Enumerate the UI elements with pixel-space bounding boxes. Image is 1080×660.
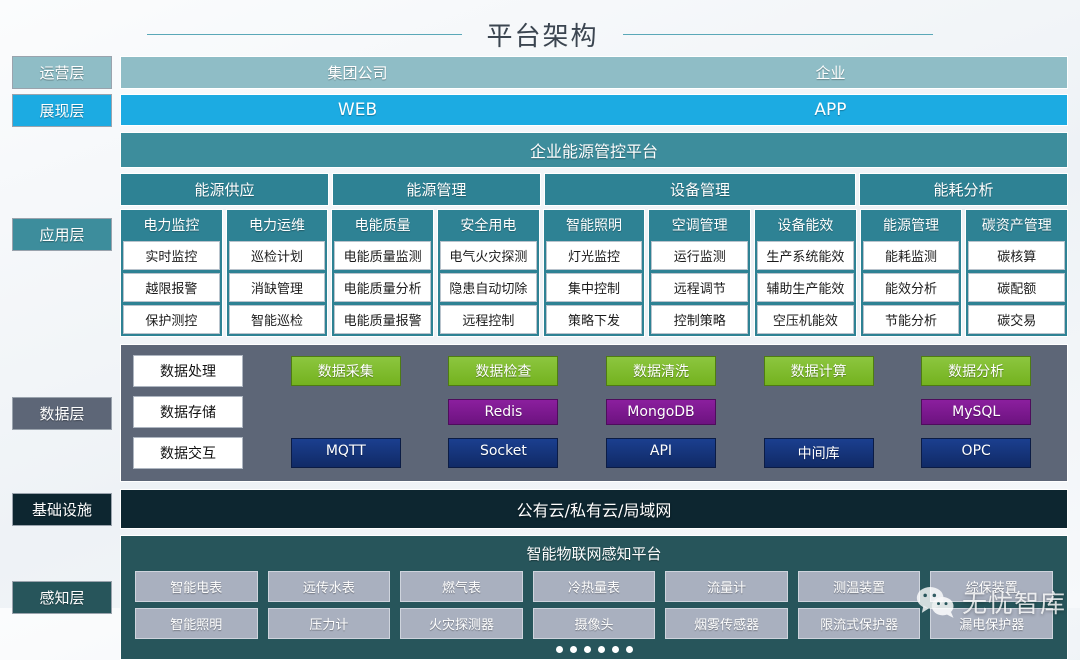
data-layer-slot: Redis bbox=[425, 399, 583, 425]
presentation-item-web[interactable]: WEB bbox=[121, 95, 594, 125]
perception-column-5: 流量计烟雾传感器 bbox=[665, 571, 788, 639]
perception-device-cell[interactable]: 摄像头 bbox=[533, 608, 656, 639]
data-layer-slot: MQTT bbox=[267, 438, 425, 468]
perception-device-cell[interactable]: 燃气表 bbox=[400, 571, 523, 602]
data-layer-category[interactable]: 数据处理 bbox=[133, 355, 243, 387]
ellipsis-dot bbox=[626, 646, 633, 653]
data-layer-category[interactable]: 数据存储 bbox=[133, 396, 243, 428]
ellipsis-dot bbox=[570, 646, 577, 653]
application-group-header-row: 能源供应能源管理设备管理能耗分析 bbox=[120, 173, 1068, 206]
presentation-bar: WEB APP bbox=[120, 94, 1068, 126]
data-layer-chip[interactable]: MySQL bbox=[921, 399, 1031, 425]
application-layer-row: 应用层 企业能源管控平台 能源供应能源管理设备管理能耗分析 电力监控实时监控越限… bbox=[0, 132, 1080, 337]
application-group-label: 设备管理 bbox=[670, 181, 730, 199]
application-column-3: 电能质量电能质量监测电能质量分析电能质量报警 bbox=[331, 209, 434, 337]
application-column-head[interactable]: 碳资产管理 bbox=[968, 212, 1065, 238]
data-layer-slot: 数据分析 bbox=[897, 356, 1055, 386]
application-cell[interactable]: 空压机能效 bbox=[757, 305, 854, 334]
application-column-5: 智能照明灯光监控集中控制策略下发 bbox=[543, 209, 646, 337]
data-layer-items: RedisMongoDBMySQL bbox=[267, 399, 1055, 425]
data-layer-slot bbox=[740, 399, 898, 425]
application-column-head[interactable]: 安全用电 bbox=[440, 212, 537, 238]
data-layer-row: 数据层 数据处理数据采集数据检查数据清洗数据计算数据分析数据存储RedisMon… bbox=[0, 344, 1080, 482]
application-cell[interactable]: 运行监测 bbox=[651, 241, 748, 270]
application-cell[interactable]: 灯光监控 bbox=[546, 241, 643, 270]
ellipsis-dot bbox=[556, 646, 563, 653]
application-column-4: 安全用电电气火灾探测隐患自动切除远程控制 bbox=[437, 209, 540, 337]
data-layer-chip[interactable]: 中间库 bbox=[764, 438, 874, 468]
application-cell[interactable]: 隐患自动切除 bbox=[440, 273, 537, 302]
application-column-head[interactable]: 电能质量 bbox=[334, 212, 431, 238]
data-layer-slot: OPC bbox=[897, 438, 1055, 468]
perception-device-cell[interactable]: 漏电保护器 bbox=[930, 608, 1053, 639]
data-layer-slot: 中间库 bbox=[740, 438, 898, 468]
presentation-layer-row: 展现层 WEB APP bbox=[0, 94, 1080, 127]
perception-device-cell[interactable]: 测温装置 bbox=[798, 571, 921, 602]
application-cell[interactable]: 保护测控 bbox=[123, 305, 220, 334]
application-column-2: 电力运维巡检计划消缺管理智能巡检 bbox=[226, 209, 329, 337]
perception-column-2: 远传水表压力计 bbox=[268, 571, 391, 639]
perception-column-1: 智能电表智能照明 bbox=[135, 571, 258, 639]
layer-label-operation: 运营层 bbox=[12, 56, 112, 89]
operation-bar: 集团公司 企业 bbox=[120, 56, 1068, 89]
application-cell[interactable]: 远程控制 bbox=[440, 305, 537, 334]
application-group-label: 能源管理 bbox=[406, 181, 466, 199]
data-layer-slot bbox=[267, 399, 425, 425]
data-layer-chip[interactable]: Socket bbox=[448, 438, 558, 468]
application-groups: 能源供应能源管理设备管理能耗分析 电力监控实时监控越限报警保护测控电力运维巡检计… bbox=[120, 173, 1068, 337]
data-layer-chip[interactable]: API bbox=[606, 438, 716, 468]
application-cell[interactable]: 巡检计划 bbox=[229, 241, 326, 270]
perception-device-cell[interactable]: 远传水表 bbox=[268, 571, 391, 602]
perception-device-cell[interactable]: 限流式保护器 bbox=[798, 608, 921, 639]
presentation-layer-body: WEB APP bbox=[120, 94, 1068, 127]
perception-column-6: 测温装置限流式保护器 bbox=[798, 571, 921, 639]
data-layer-chip[interactable]: 数据计算 bbox=[764, 356, 874, 386]
data-layer-chip[interactable]: MQTT bbox=[291, 438, 401, 468]
perception-device-cell[interactable]: 压力计 bbox=[268, 608, 391, 639]
data-layer-chip[interactable]: Redis bbox=[448, 399, 558, 425]
data-layer-slot: 数据计算 bbox=[740, 356, 898, 386]
application-column-head[interactable]: 设备能效 bbox=[757, 212, 854, 238]
application-column-6: 空调管理运行监测远程调节控制策略 bbox=[648, 209, 751, 337]
perception-device-cell[interactable]: 综保装置 bbox=[930, 571, 1053, 602]
application-column-row: 电力监控实时监控越限报警保护测控电力运维巡检计划消缺管理智能巡检电能质量电能质量… bbox=[120, 209, 1068, 337]
application-column-1: 电力监控实时监控越限报警保护测控 bbox=[120, 209, 223, 337]
application-cell[interactable]: 碳配额 bbox=[968, 273, 1065, 302]
perception-device-cell[interactable]: 烟雾传感器 bbox=[665, 608, 788, 639]
operation-layer-label-cell: 运营层 bbox=[12, 56, 112, 89]
application-group-label: 能源供应 bbox=[194, 181, 254, 199]
perception-layer-label-cell: 感知层 bbox=[12, 535, 112, 660]
perception-column-3: 燃气表火灾探测器 bbox=[400, 571, 523, 639]
perception-device-cell[interactable]: 智能电表 bbox=[135, 571, 258, 602]
application-cell[interactable]: 电能质量报警 bbox=[334, 305, 431, 334]
application-layer-body: 企业能源管控平台 能源供应能源管理设备管理能耗分析 电力监控实时监控越限报警保护… bbox=[120, 132, 1068, 337]
data-layer-chip[interactable]: 数据清洗 bbox=[606, 356, 716, 386]
ellipsis-dot bbox=[612, 646, 619, 653]
application-group-label: 能耗分析 bbox=[934, 181, 994, 199]
perception-device-cell[interactable]: 智能照明 bbox=[135, 608, 258, 639]
data-layer-items: MQTTSocketAPI中间库OPC bbox=[267, 438, 1055, 468]
data-layer-slot: Socket bbox=[425, 438, 583, 468]
application-column-head[interactable]: 电力监控 bbox=[123, 212, 220, 238]
data-layer-label-cell: 数据层 bbox=[12, 344, 112, 482]
perception-device-cell[interactable]: 冷热量表 bbox=[533, 571, 656, 602]
operation-item-enterprise[interactable]: 企业 bbox=[594, 57, 1067, 88]
layer-label-application: 应用层 bbox=[12, 218, 112, 251]
application-column-9: 碳资产管理碳核算碳配额碳交易 bbox=[965, 209, 1068, 337]
application-cell[interactable]: 集中控制 bbox=[546, 273, 643, 302]
application-cell[interactable]: 辅助生产能效 bbox=[757, 273, 854, 302]
application-group-4[interactable]: 能耗分析 bbox=[859, 173, 1068, 206]
application-cell[interactable]: 实时监控 bbox=[123, 241, 220, 270]
application-column-head[interactable]: 电力运维 bbox=[229, 212, 326, 238]
operation-layer-body: 集团公司 企业 bbox=[120, 56, 1068, 89]
presentation-layer-label-cell: 展现层 bbox=[12, 94, 112, 127]
title-rule-right bbox=[623, 34, 933, 35]
perception-layer-body: 智能物联网感知平台 智能电表智能照明远传水表压力计燃气表火灾探测器冷热量表摄像头… bbox=[120, 535, 1068, 660]
ellipsis-dot bbox=[584, 646, 591, 653]
data-layer-chip[interactable]: OPC bbox=[921, 438, 1031, 468]
perception-device-cell[interactable]: 火灾探测器 bbox=[400, 608, 523, 639]
infrastructure-bar: 公有云/私有云/局域网 bbox=[120, 489, 1068, 529]
data-layer-category[interactable]: 数据交互 bbox=[133, 437, 243, 469]
data-layer-line: 数据处理数据采集数据检查数据清洗数据计算数据分析 bbox=[133, 355, 1055, 387]
data-layer-line: 数据存储RedisMongoDBMySQL bbox=[133, 396, 1055, 428]
ellipsis-dot bbox=[598, 646, 605, 653]
application-cell[interactable]: 越限报警 bbox=[123, 273, 220, 302]
application-cell[interactable]: 碳交易 bbox=[968, 305, 1065, 334]
layer-label-perception: 感知层 bbox=[12, 581, 112, 614]
data-layer-slot: 数据采集 bbox=[267, 356, 425, 386]
data-layer-chip[interactable]: 数据采集 bbox=[291, 356, 401, 386]
application-column-head[interactable]: 空调管理 bbox=[651, 212, 748, 238]
application-cell[interactable]: 远程调节 bbox=[651, 273, 748, 302]
title-rule-left bbox=[147, 34, 462, 35]
perception-panel: 智能物联网感知平台 智能电表智能照明远传水表压力计燃气表火灾探测器冷热量表摄像头… bbox=[120, 535, 1068, 660]
data-layer-slot: 数据检查 bbox=[425, 356, 583, 386]
data-layer-slot: API bbox=[582, 438, 740, 468]
perception-column-7: 综保装置漏电保护器 bbox=[930, 571, 1053, 639]
application-column-head[interactable]: 智能照明 bbox=[546, 212, 643, 238]
application-cell[interactable]: 电能质量监测 bbox=[334, 241, 431, 270]
layer-label-infrastructure: 基础设施 bbox=[12, 493, 112, 526]
data-layer-items: 数据采集数据检查数据清洗数据计算数据分析 bbox=[267, 356, 1055, 386]
application-cell[interactable]: 智能巡检 bbox=[229, 305, 326, 334]
infrastructure-layer-row: 基础设施 公有云/私有云/局域网 bbox=[0, 489, 1080, 529]
application-group-2[interactable]: 能源管理 bbox=[332, 173, 541, 206]
application-column-head[interactable]: 能源管理 bbox=[863, 212, 960, 238]
data-layer-chip[interactable]: MongoDB bbox=[606, 399, 716, 425]
architecture-diagram: 运营层 集团公司 企业 展现层 WEB APP bbox=[0, 56, 1080, 660]
application-column-7: 设备能效生产系统能效辅助生产能效空压机能效 bbox=[754, 209, 857, 337]
application-cell[interactable]: 电能质量分析 bbox=[334, 273, 431, 302]
operation-layer-row: 运营层 集团公司 企业 bbox=[0, 56, 1080, 89]
application-cell[interactable]: 碳核算 bbox=[968, 241, 1065, 270]
page-header: 平台架构 bbox=[0, 0, 1080, 56]
application-group-1[interactable]: 能源供应 bbox=[120, 173, 329, 206]
application-cell[interactable]: 策略下发 bbox=[546, 305, 643, 334]
application-cell[interactable]: 生产系统能效 bbox=[757, 241, 854, 270]
application-group-3[interactable]: 设备管理 bbox=[544, 173, 856, 206]
data-layer-chip[interactable]: 数据分析 bbox=[921, 356, 1031, 386]
presentation-item-app[interactable]: APP bbox=[594, 95, 1067, 125]
data-layer-slot: MongoDB bbox=[582, 399, 740, 425]
data-layer-slot: MySQL bbox=[897, 399, 1055, 425]
layer-label-data: 数据层 bbox=[12, 397, 112, 430]
perception-column-4: 冷热量表摄像头 bbox=[533, 571, 656, 639]
infrastructure-layer-body: 公有云/私有云/局域网 bbox=[120, 489, 1068, 529]
infrastructure-layer-label-cell: 基础设施 bbox=[12, 489, 112, 529]
data-panel: 数据处理数据采集数据检查数据清洗数据计算数据分析数据存储RedisMongoDB… bbox=[120, 344, 1068, 482]
perception-device-cell[interactable]: 流量计 bbox=[665, 571, 788, 602]
data-layer-line: 数据交互MQTTSocketAPI中间库OPC bbox=[133, 437, 1055, 469]
perception-grid: 智能电表智能照明远传水表压力计燃气表火灾探测器冷热量表摄像头流量计烟雾传感器测温… bbox=[135, 571, 1053, 639]
layer-label-presentation: 展现层 bbox=[12, 94, 112, 127]
application-cell[interactable]: 消缺管理 bbox=[229, 273, 326, 302]
perception-ellipsis-dots bbox=[135, 639, 1053, 653]
application-column-8: 能源管理能耗监测能效分析节能分析 bbox=[860, 209, 963, 337]
page-title: 平台架构 bbox=[486, 16, 598, 53]
data-layer-slot: 数据清洗 bbox=[582, 356, 740, 386]
operation-item-group[interactable]: 集团公司 bbox=[121, 57, 594, 88]
data-layer-body: 数据处理数据采集数据检查数据清洗数据计算数据分析数据存储RedisMongoDB… bbox=[120, 344, 1068, 482]
platform-bar: 企业能源管控平台 bbox=[120, 132, 1068, 168]
perception-layer-row: 感知层 智能物联网感知平台 智能电表智能照明远传水表压力计燃气表火灾探测器冷热量… bbox=[0, 535, 1080, 660]
application-cell[interactable]: 电气火灾探测 bbox=[440, 241, 537, 270]
platform-bar-label: 企业能源管控平台 bbox=[121, 133, 1067, 167]
perception-title: 智能物联网感知平台 bbox=[135, 543, 1053, 571]
application-cell[interactable]: 能耗监测 bbox=[863, 241, 960, 270]
application-cell[interactable]: 节能分析 bbox=[863, 305, 960, 334]
data-layer-chip[interactable]: 数据检查 bbox=[448, 356, 558, 386]
application-layer-label-cell: 应用层 bbox=[12, 132, 112, 337]
application-cell[interactable]: 能效分析 bbox=[863, 273, 960, 302]
application-cell[interactable]: 控制策略 bbox=[651, 305, 748, 334]
